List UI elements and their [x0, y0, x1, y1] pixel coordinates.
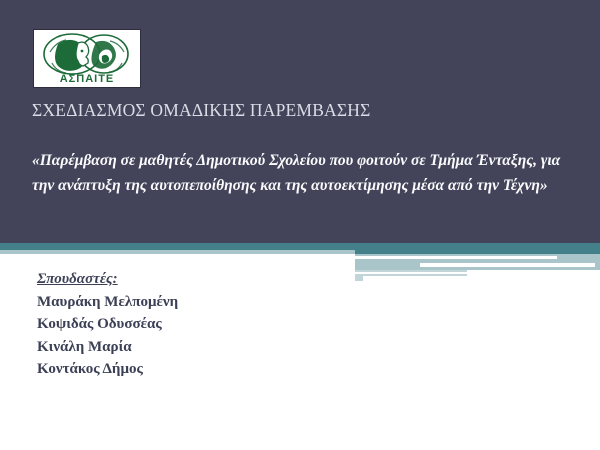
deco-stripe-3-gap — [355, 272, 467, 274]
student-name: Κινάλη Μαρία — [37, 336, 367, 359]
decorative-stripes — [355, 243, 600, 283]
student-name: Κοψιδάς Οδυσσέας — [37, 313, 367, 336]
students-block: Σπουδαστές: Μαυράκη Μελπομένη Κοψιδάς Οδ… — [37, 268, 367, 381]
page-title: ΣΧΕΔΙΑΣΜΟΣ ΟΜΑΔΙΚΗΣ ΠΑΡΕΜΒΑΣΗΣ — [32, 99, 572, 121]
student-name: Κοντάκος Δήμος — [37, 358, 367, 381]
divider-band-light-teal — [0, 250, 356, 254]
slide-subtitle: «Παρέμβαση σε μαθητές Δημοτικού Σχολείου… — [32, 148, 577, 198]
student-name: Μαυράκη Μελπομένη — [37, 291, 367, 314]
presentation-slide: ΑΣΠΑΙΤΕ ΣΧΕΔΙΑΣΜΟΣ ΟΜΑΔΙΚΗΣ ΠΑΡΕΜΒΑΣΗΣ «… — [0, 0, 600, 450]
deco-stripe-2-gap — [420, 263, 595, 267]
aspaite-logo: ΑΣΠΑΙΤΕ — [33, 29, 141, 88]
deco-stripe-dark — [355, 243, 600, 254]
logo-wordmark: ΑΣΠΑΙΤΕ — [34, 74, 140, 85]
students-heading: Σπουδαστές: — [37, 268, 367, 291]
deco-stripe-1-gap — [355, 256, 557, 259]
